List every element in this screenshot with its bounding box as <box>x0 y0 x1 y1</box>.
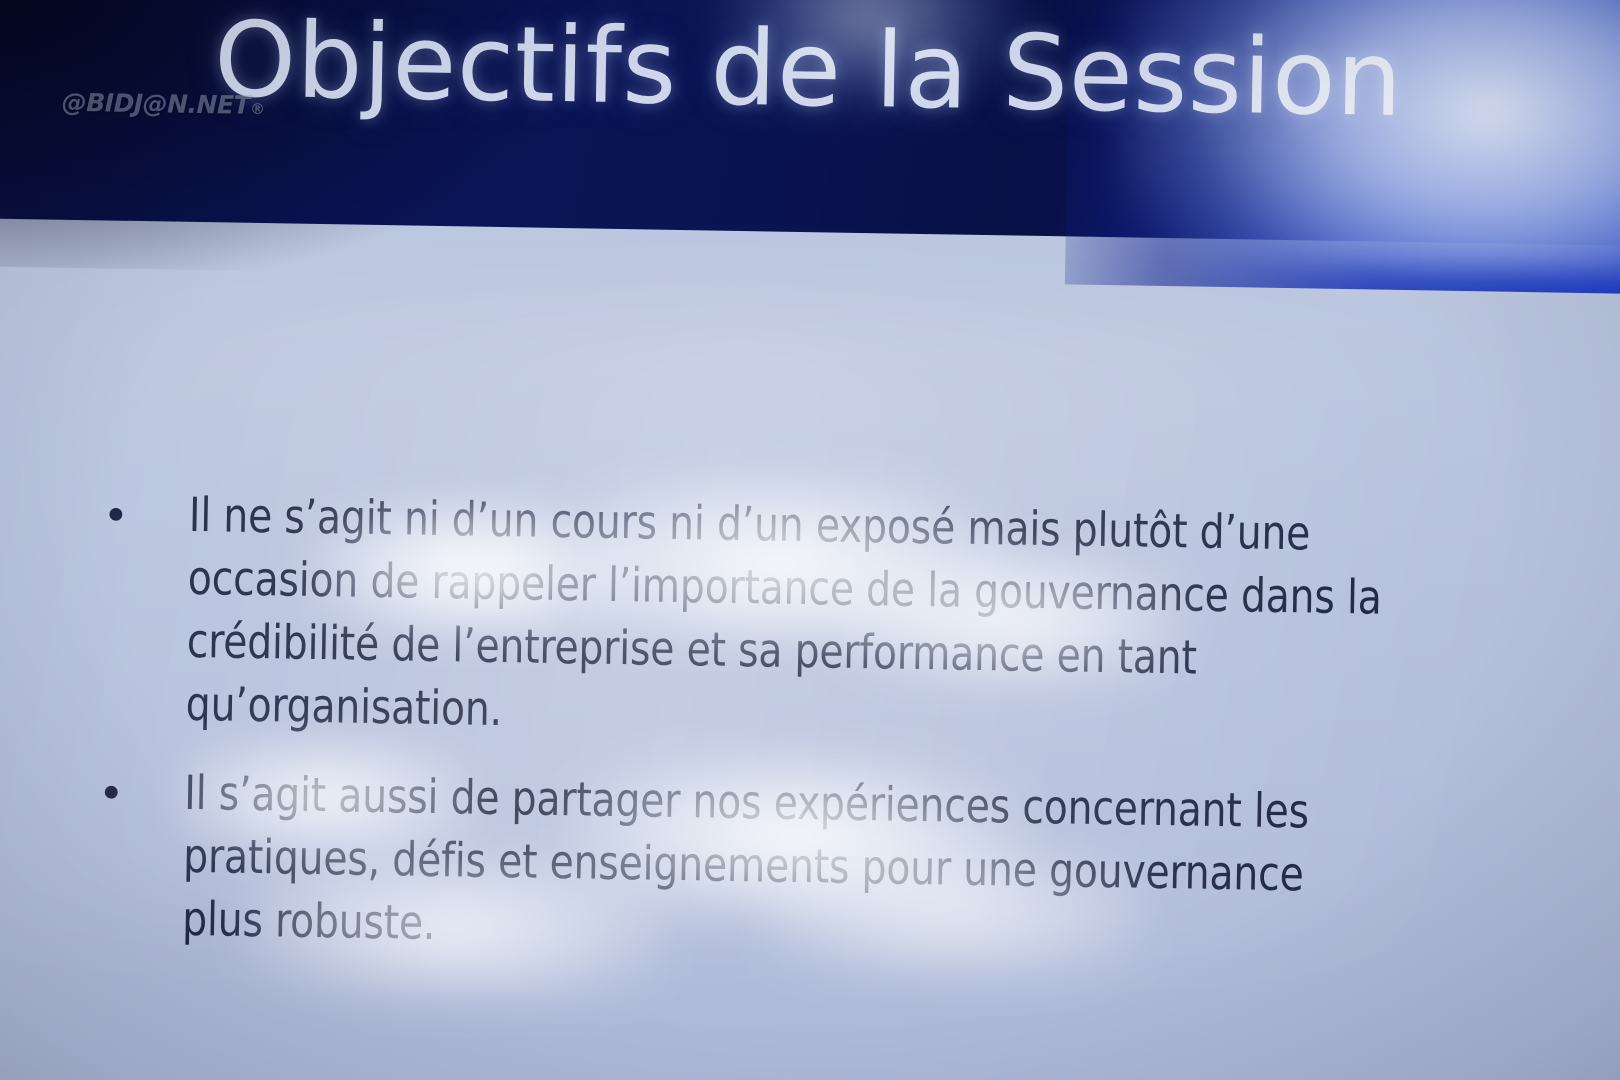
list-item: • Il s’agit aussi de partager nos expéri… <box>92 760 1475 972</box>
bullet-text: Il s’agit aussi de partager nos expérien… <box>182 762 1385 971</box>
list-item: • Il ne s’agit ni d’un cours ni d’un exp… <box>95 482 1479 757</box>
watermark-text: @BIDJ@N.NET <box>62 88 251 120</box>
slide-surface: Objectifs de la Session @BIDJ@N.NET® • I… <box>0 0 1620 1080</box>
bullet-point-icon: • <box>94 760 185 829</box>
bullet-point-icon: • <box>98 482 189 551</box>
slide-body: • Il ne s’agit ni d’un cours ni d’un exp… <box>0 218 1620 1080</box>
projected-slide-photo: Objectifs de la Session @BIDJ@N.NET® • I… <box>0 0 1620 1080</box>
watermark-registered-mark: ® <box>250 100 265 118</box>
slide-header-band: Objectifs de la Session @BIDJ@N.NET® <box>0 0 1620 246</box>
watermark-abidjan-net: @BIDJ@N.NET® <box>62 88 265 120</box>
bullet-list: • Il ne s’agit ni d’un cours ni d’un exp… <box>91 482 1479 998</box>
bullet-text: Il ne s’agit ni d’un cours ni d’un expos… <box>185 484 1389 756</box>
